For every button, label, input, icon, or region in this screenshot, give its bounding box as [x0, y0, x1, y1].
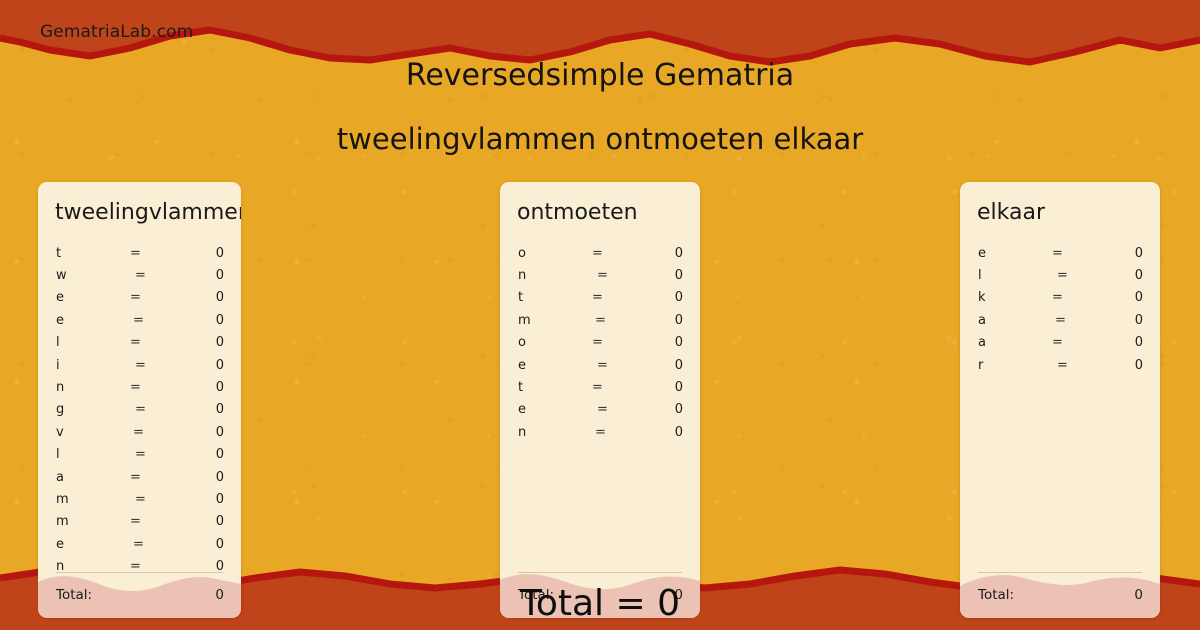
gematria-card-image: GematriaLab.com Reversedsimple Gematria … [0, 0, 1200, 630]
row-equals: = [1052, 290, 1112, 305]
letter-value-list: t=0w=0e=0e=0l=0i=0n=0g=0v=0l=0a=0m=0m=0e… [38, 242, 241, 578]
row-value: 0 [195, 447, 224, 462]
row-equals: = [130, 313, 193, 328]
row-letter: l [978, 268, 1052, 283]
row-letter: e [518, 402, 592, 417]
row-letter: t [518, 290, 592, 305]
row-value: 0 [193, 425, 224, 440]
row-letter: o [518, 246, 592, 261]
overlay-total: Total = 0 [500, 583, 700, 624]
row-equals: = [592, 425, 655, 440]
row-equals: = [592, 290, 652, 305]
total-label: Total: [56, 587, 92, 603]
row-value: 0 [190, 335, 224, 350]
card-word: tweelingvlammen [55, 200, 241, 225]
page-subtitle: tweelingvlammen ontmoeten elkaar [0, 122, 1200, 156]
row-letter: e [56, 313, 130, 328]
letter-value-row: l=0 [38, 332, 241, 354]
row-letter: k [978, 290, 1052, 305]
row-equals: = [130, 246, 190, 261]
letter-value-row: l=0 [38, 444, 241, 466]
row-value: 0 [190, 380, 224, 395]
letter-value-row: n=0 [500, 421, 700, 443]
letter-value-row: o=0 [500, 242, 700, 264]
row-equals: = [130, 447, 195, 462]
row-letter: g [56, 402, 130, 417]
row-letter: a [56, 470, 130, 485]
letter-value-row: t=0 [500, 376, 700, 398]
total-value: 0 [1134, 587, 1143, 603]
row-letter: n [56, 380, 130, 395]
card-word: ontmoeten [517, 200, 638, 225]
page-title: Reversedsimple Gematria [0, 58, 1200, 93]
row-letter: m [56, 492, 130, 507]
row-equals: = [130, 514, 190, 529]
letter-value-row: a=0 [960, 309, 1160, 331]
letter-value-row: e=0 [500, 354, 700, 376]
row-equals: = [1052, 313, 1115, 328]
row-equals: = [592, 268, 657, 283]
row-letter: a [978, 335, 1052, 350]
row-letter: i [56, 358, 130, 373]
letter-value-row: a=0 [960, 332, 1160, 354]
row-letter: n [518, 425, 592, 440]
letter-value-row: m=0 [500, 309, 700, 331]
letter-value-row: o=0 [500, 332, 700, 354]
gematria-card: ontmoeten o=0n=0t=0m=0o=0e=0t=0e=0n=0 To… [500, 182, 700, 618]
letter-value-row: t=0 [500, 287, 700, 309]
letter-value-row: n=0 [500, 264, 700, 286]
card-total-row: Total: 0 [38, 572, 241, 618]
row-equals: = [1052, 268, 1117, 283]
total-label: Total: [978, 587, 1014, 603]
row-letter: m [56, 514, 130, 529]
row-value: 0 [652, 380, 683, 395]
row-value: 0 [655, 313, 683, 328]
letter-value-row: m=0 [38, 511, 241, 533]
row-equals: = [130, 470, 190, 485]
letter-value-row: m=0 [38, 488, 241, 510]
row-letter: a [978, 313, 1052, 328]
row-letter: w [56, 268, 130, 283]
gematria-card: elkaar e=0l=0k=0a=0a=0r=0 Total: 0 [960, 182, 1160, 618]
card-word: elkaar [977, 200, 1045, 225]
row-equals: = [130, 537, 193, 552]
row-equals: = [592, 380, 652, 395]
site-logo[interactable]: GematriaLab.com [40, 22, 193, 42]
row-equals: = [592, 402, 657, 417]
row-equals: = [130, 402, 195, 417]
row-letter: r [978, 358, 1052, 373]
row-letter: l [56, 335, 130, 350]
row-value: 0 [657, 402, 683, 417]
letter-value-row: a=0 [38, 466, 241, 488]
row-value: 0 [193, 537, 224, 552]
row-value: 0 [1117, 268, 1143, 283]
row-letter: l [56, 447, 130, 462]
letter-value-row: i=0 [38, 354, 241, 376]
row-value: 0 [190, 470, 224, 485]
row-value: 0 [190, 246, 224, 261]
row-letter: t [56, 246, 130, 261]
row-equals: = [592, 246, 652, 261]
row-equals: = [130, 335, 190, 350]
letter-value-row: e=0 [38, 287, 241, 309]
row-equals: = [1052, 246, 1112, 261]
row-equals: = [130, 358, 195, 373]
row-value: 0 [195, 402, 224, 417]
letter-value-row: e=0 [500, 399, 700, 421]
row-value: 0 [657, 268, 683, 283]
letter-value-row: l=0 [960, 264, 1160, 286]
row-value: 0 [1115, 313, 1143, 328]
letter-value-row: n=0 [38, 376, 241, 398]
letter-value-row: r=0 [960, 354, 1160, 376]
footer-divider [978, 572, 1142, 573]
row-equals: = [1052, 335, 1112, 350]
row-value: 0 [193, 313, 224, 328]
row-equals: = [130, 492, 195, 507]
row-value: 0 [195, 492, 224, 507]
letter-value-row: g=0 [38, 399, 241, 421]
row-letter: o [518, 335, 592, 350]
letter-value-row: e=0 [38, 533, 241, 555]
row-value: 0 [1112, 335, 1143, 350]
row-equals: = [1052, 358, 1117, 373]
row-value: 0 [652, 335, 683, 350]
row-letter: e [56, 290, 130, 305]
letter-value-row: v=0 [38, 421, 241, 443]
row-equals: = [592, 358, 657, 373]
row-equals: = [130, 290, 190, 305]
row-letter: n [518, 268, 592, 283]
row-value: 0 [657, 358, 683, 373]
row-letter: m [518, 313, 592, 328]
row-equals: = [130, 380, 190, 395]
row-letter: t [518, 380, 592, 395]
row-equals: = [592, 313, 655, 328]
gematria-card: tweelingvlammen t=0w=0e=0e=0l=0i=0n=0g=0… [38, 182, 241, 618]
card-total-row: Total: 0 [960, 572, 1160, 618]
row-value: 0 [1112, 290, 1143, 305]
letter-value-row: k=0 [960, 287, 1160, 309]
row-value: 0 [652, 290, 683, 305]
row-value: 0 [190, 514, 224, 529]
row-value: 0 [1112, 246, 1143, 261]
letter-value-row: e=0 [960, 242, 1160, 264]
letter-value-list: o=0n=0t=0m=0o=0e=0t=0e=0n=0 [500, 242, 700, 444]
letter-value-row: t=0 [38, 242, 241, 264]
row-value: 0 [652, 246, 683, 261]
row-equals: = [592, 335, 652, 350]
row-value: 0 [655, 425, 683, 440]
footer-divider [518, 572, 682, 573]
row-letter: e [978, 246, 1052, 261]
row-letter: e [56, 537, 130, 552]
row-letter: e [518, 358, 592, 373]
letter-value-row: w=0 [38, 264, 241, 286]
row-letter: v [56, 425, 130, 440]
letter-value-list: e=0l=0k=0a=0a=0r=0 [960, 242, 1160, 376]
row-equals: = [130, 268, 195, 283]
row-value: 0 [1117, 358, 1143, 373]
row-equals: = [130, 425, 193, 440]
row-value: 0 [195, 358, 224, 373]
letter-value-row: e=0 [38, 309, 241, 331]
row-value: 0 [195, 268, 224, 283]
row-value: 0 [190, 290, 224, 305]
footer-divider [56, 572, 223, 573]
total-value: 0 [215, 587, 224, 603]
